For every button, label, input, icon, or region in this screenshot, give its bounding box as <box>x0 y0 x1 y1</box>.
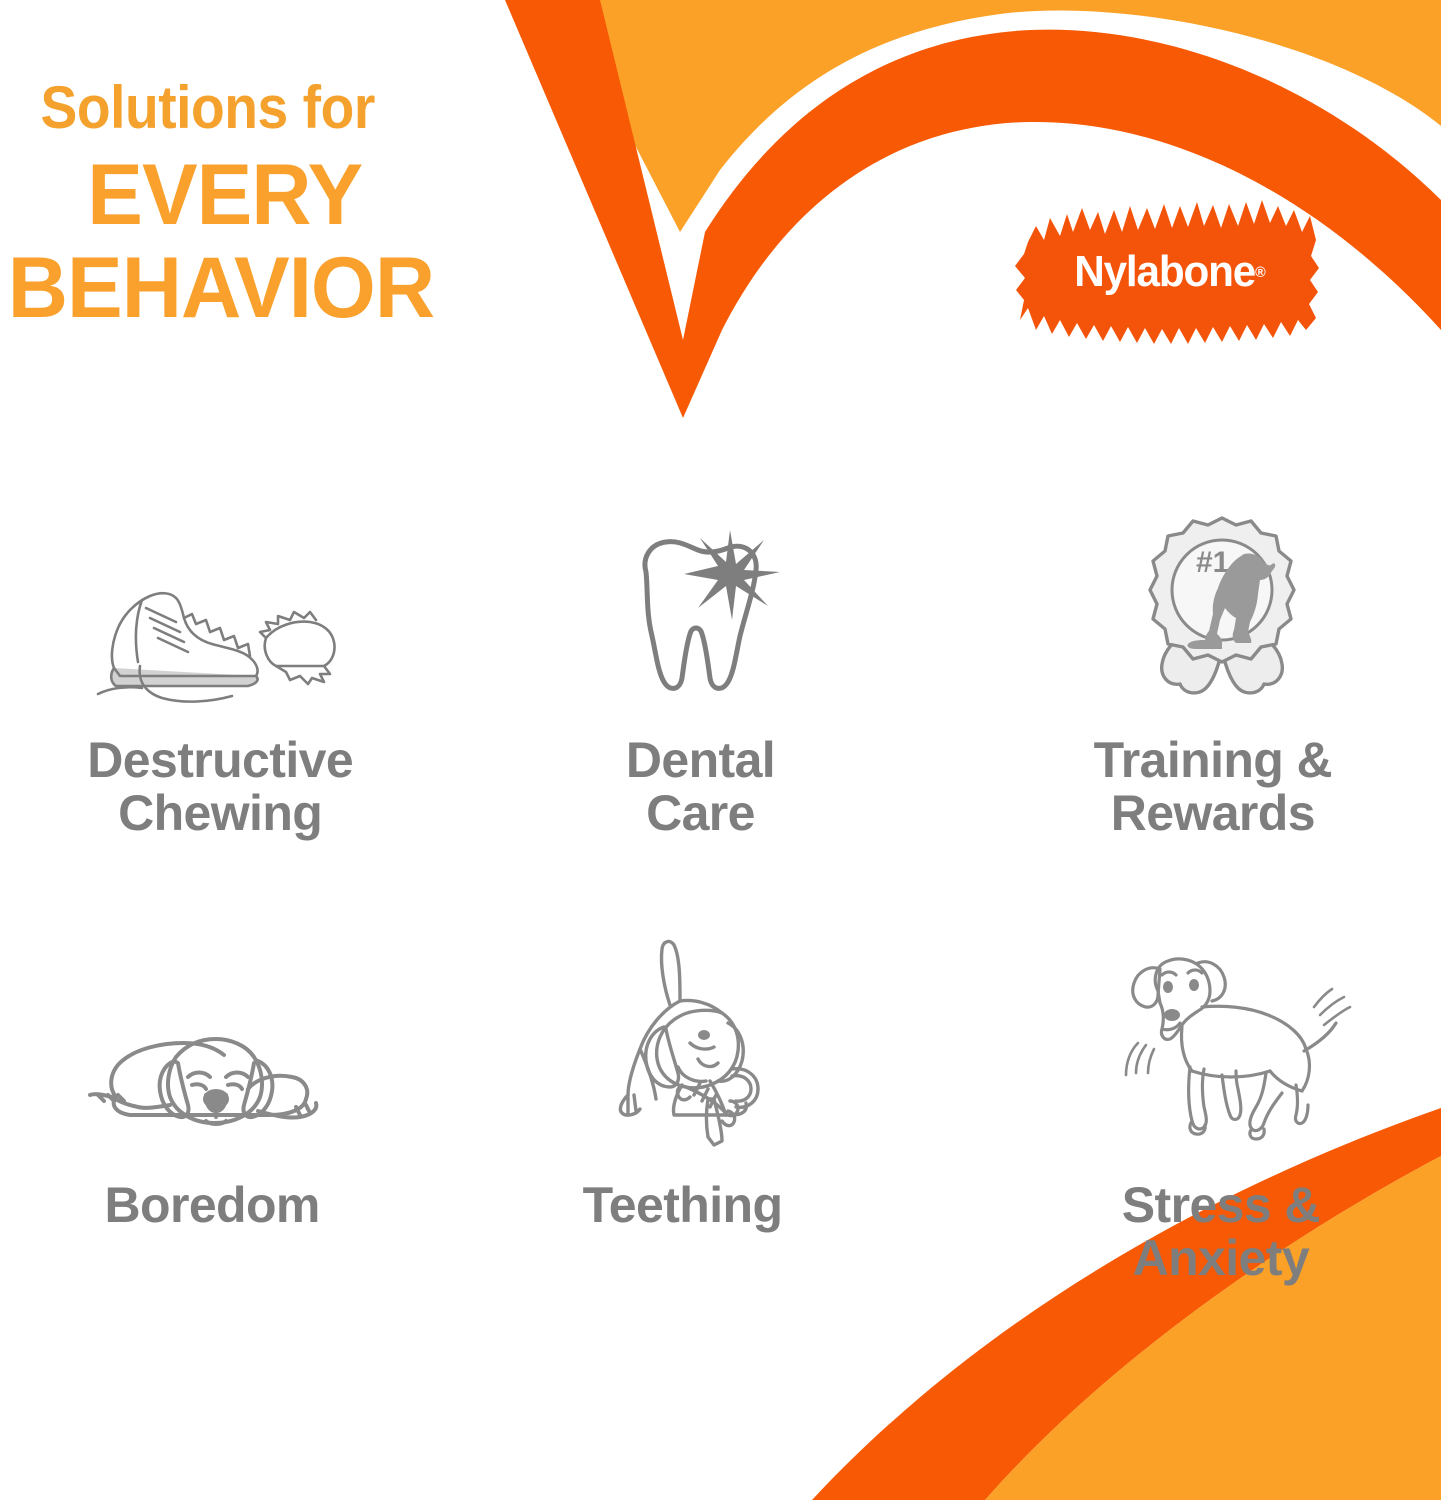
award-rosette-dog-icon: #1 <box>1118 500 1328 720</box>
grid-item-dental-care: Dental Care <box>480 500 960 930</box>
registered-trademark-icon: ® <box>1255 264 1266 281</box>
headline-line-1: Solutions for <box>0 78 570 138</box>
standing-anxious-dog-icon <box>1106 930 1356 1165</box>
badge-rank-text: #1 <box>1196 546 1229 579</box>
grid-item-label: Boredom <box>105 1179 320 1232</box>
grid-item-label: Teething <box>583 1179 783 1232</box>
brand-name: Nylabone <box>1074 247 1255 297</box>
grid-item-boredom: Boredom <box>0 930 480 1330</box>
grid-item-label: Training & Rewards <box>1094 734 1332 840</box>
lying-bored-dog-icon <box>60 930 360 1165</box>
grid-item-destructive-chewing: Destructive Chewing <box>0 500 480 930</box>
puppy-chewing-toy-icon <box>582 930 802 1165</box>
promo-banner: Solutions for EVERY BEHAVIOR Nylabone® <box>0 0 1441 1500</box>
grid-item-stress-anxiety: Stress & Anxiety <box>961 930 1441 1330</box>
grid-item-teething: Teething <box>480 930 960 1330</box>
headline-block: Solutions for EVERY BEHAVIOR <box>0 78 620 334</box>
grid-item-label: Stress & Anxiety <box>1122 1179 1320 1285</box>
headline-line-3: BEHAVIOR <box>0 243 601 334</box>
chewed-shoe-icon <box>80 500 380 720</box>
grid-item-label: Destructive Chewing <box>87 734 353 840</box>
sparkling-tooth-icon <box>588 500 808 720</box>
brand-wordmark: Nylabone® <box>1016 196 1323 348</box>
behavior-grid: Destructive Chewing Dental Care <box>0 500 1441 1330</box>
grid-item-label: Dental Care <box>626 734 775 840</box>
brand-logo: Nylabone® <box>1010 196 1330 348</box>
headline-line-2: EVERY <box>0 150 601 241</box>
grid-item-training-rewards: #1 Training & Rewards <box>961 500 1441 930</box>
